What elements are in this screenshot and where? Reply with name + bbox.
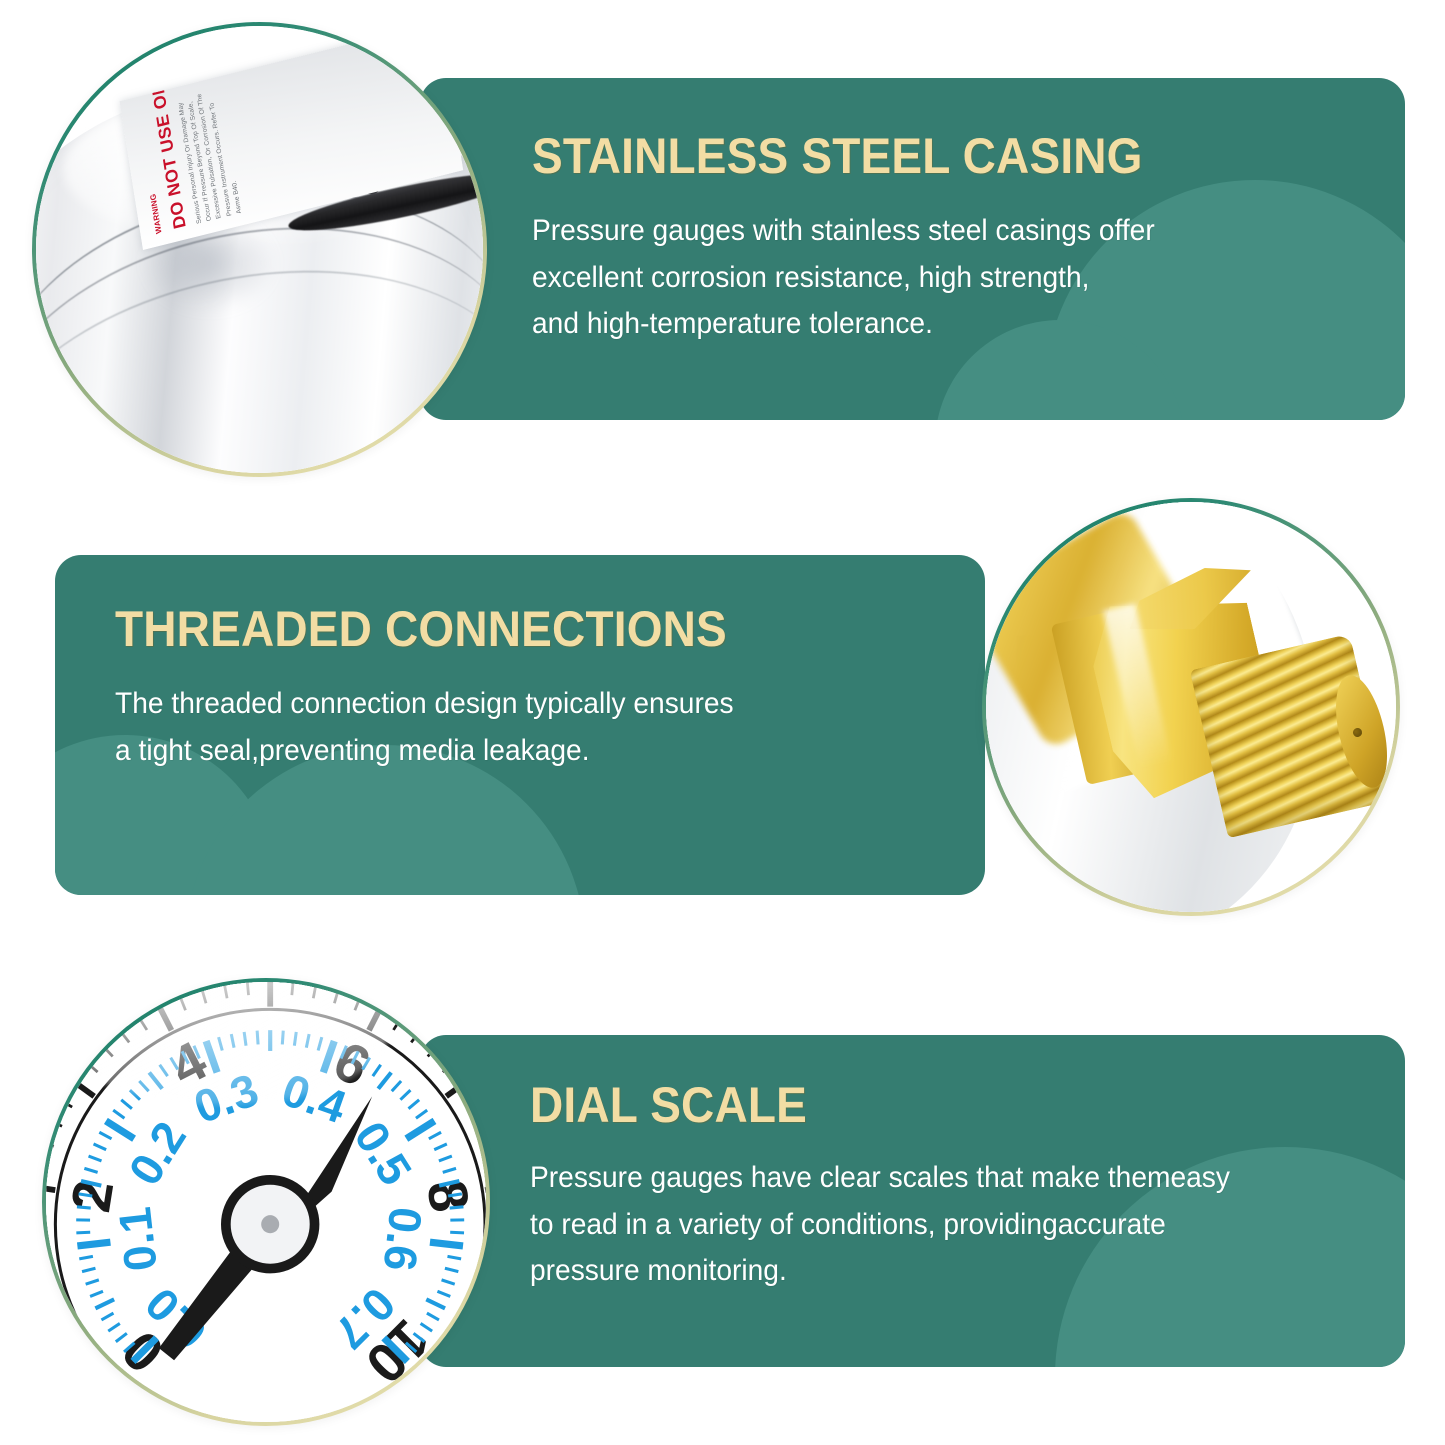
feature-description-line: Pressure gauges have clear scales that m…: [530, 1155, 1230, 1202]
feature-description: Pressure gauges have clear scales that m…: [530, 1155, 1230, 1295]
feature-description: Pressure gauges with stainless steel cas…: [532, 208, 1166, 348]
dial-scale-illustration: 02468100.00.10.20.30.40.50.60.7: [46, 982, 486, 1422]
feature-title: STAINLESS STEEL CASING: [532, 130, 1143, 182]
inner-scale-label: 0.2: [119, 1113, 196, 1194]
image-clip: WARNING DO NOT USE ON OXY Serious Person…: [36, 26, 483, 473]
feature-panel-threaded-connections: THREADED CONNECTIONS The threaded connec…: [55, 555, 985, 895]
feature-title: THREADED CONNECTIONS: [115, 603, 727, 655]
feature-description-line: The threaded connection design typically…: [115, 681, 750, 728]
feature-panel-dial-scale: DIAL SCALE Pressure gauges have clear sc…: [420, 1035, 1405, 1367]
image-clip: 02468100.00.10.20.30.40.50.60.7: [46, 982, 486, 1422]
feature-panel-content: DIAL SCALE Pressure gauges have clear sc…: [530, 1079, 1263, 1295]
feature-panel-content: THREADED CONNECTIONS The threaded connec…: [115, 603, 780, 774]
inner-scale-label: 0.6: [374, 1204, 432, 1273]
brass-fitting-illustration: [986, 502, 1396, 912]
feature-panel-content: STAINLESS STEEL CASING Pressure gauges w…: [532, 130, 1196, 348]
feature-description-line: excellent corrosion resistance, high str…: [532, 255, 1166, 302]
feature-description: The threaded connection design typically…: [115, 681, 750, 774]
image-clip: [986, 502, 1396, 912]
feature-image-stainless-steel-casing: WARNING DO NOT USE ON OXY Serious Person…: [32, 22, 487, 477]
warning-label-word: WARNING: [149, 192, 164, 234]
feature-image-threaded-connections: [982, 498, 1400, 916]
feature-description-line: Pressure gauges with stainless steel cas…: [532, 208, 1166, 255]
inner-scale-label: 0.1: [109, 1204, 167, 1273]
feature-description-line: a tight seal,preventing media leakage.: [115, 728, 750, 775]
feature-panel-stainless-steel-casing: STAINLESS STEEL CASING Pressure gauges w…: [420, 78, 1405, 420]
feature-description-line: pressure monitoring.: [530, 1248, 1230, 1295]
infographic-root: STAINLESS STEEL CASING Pressure gauges w…: [0, 0, 1445, 1445]
stainless-casing-illustration: WARNING DO NOT USE ON OXY Serious Person…: [36, 26, 483, 473]
feature-title: DIAL SCALE: [530, 1079, 1204, 1131]
needle-hub-pin: [261, 1215, 279, 1233]
feature-image-dial-scale: 02468100.00.10.20.30.40.50.60.7: [42, 978, 490, 1426]
feature-description-line: to read in a variety of conditions, prov…: [530, 1202, 1230, 1249]
feature-description-line: and high-temperature tolerance.: [532, 301, 1166, 348]
